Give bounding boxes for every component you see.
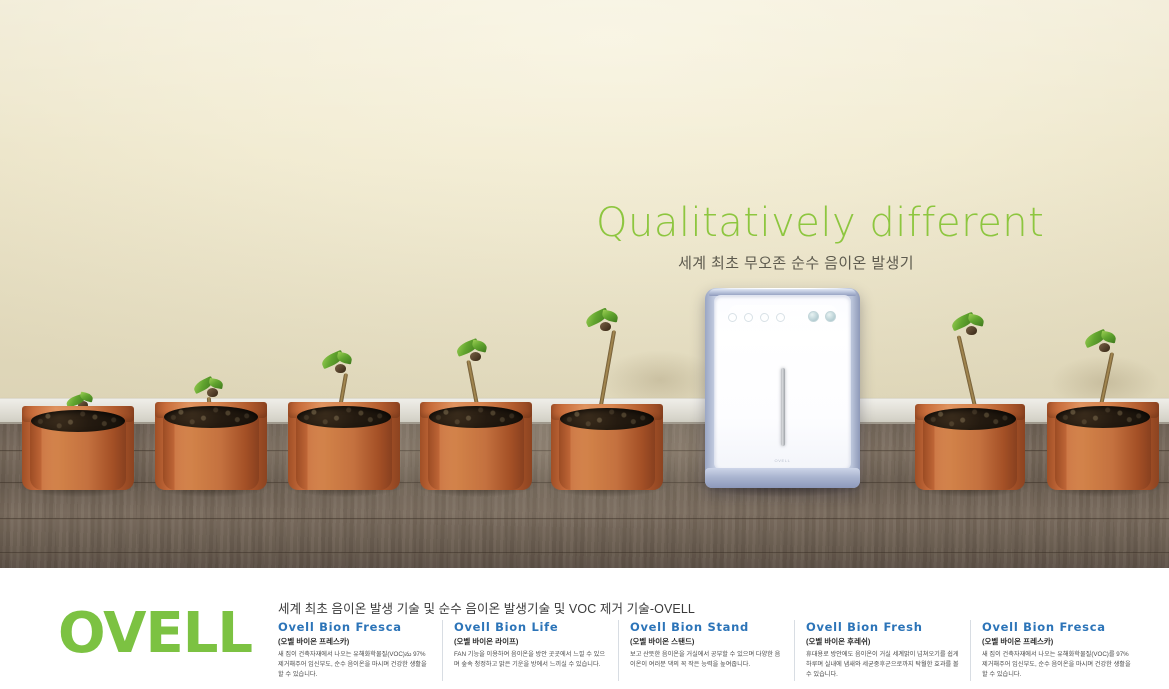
product-title: Ovell Bion Life (454, 620, 607, 634)
potted-plant (22, 360, 134, 490)
mode-button[interactable] (808, 311, 819, 322)
pot-soil (560, 408, 654, 430)
product-title: Ovell Bion Fresh (806, 620, 959, 634)
advertisement-poster: OVELL (0, 0, 1169, 689)
hero-subheadline: 세계 최초 무오존 순수 음이온 발생기 (596, 252, 996, 273)
pot-soil (1056, 406, 1150, 428)
device-air-outlet-slot (781, 368, 785, 446)
product-description: 새 집이 건축자재에서 나오는 유해화학물질(VOC)를 97% 제거해주어 임… (982, 650, 1136, 681)
plant-leaf (1100, 331, 1117, 344)
product-title: Ovell Bion Fresca (278, 620, 431, 634)
product-panel[interactable]: Ovell Bion Fresca (오벨 바이온 프레스카) 새 집이 건축자… (982, 620, 1147, 681)
product-title: Ovell Bion Stand (630, 620, 783, 634)
plant-leaf (471, 339, 488, 352)
product-description: 새 집이 건축자재에서 나오는 유해화학물질(VOC)ను 97% 제거해주어 … (278, 650, 431, 681)
flower-pot (915, 404, 1025, 490)
pot-soil (924, 408, 1016, 430)
pot-soil (429, 406, 523, 428)
product-title: Ovell Bion Fresca (982, 620, 1136, 634)
hero-headline: Qualitatively different (596, 200, 996, 246)
flower-pot (22, 406, 134, 490)
flower-pot (420, 402, 532, 490)
device-brand-mark: OVELL (715, 458, 850, 463)
power-button[interactable] (825, 311, 836, 322)
seed-husk (966, 326, 977, 335)
product-panel[interactable]: Ovell Bion Fresh (오벨 바이온 후레쉬) 휴대용로 방안에도 … (806, 620, 971, 681)
device-control-buttons[interactable] (808, 311, 836, 322)
filter-indicator-icon (776, 313, 785, 322)
potted-plant (1047, 322, 1159, 490)
device-front-panel: OVELL (714, 295, 851, 470)
product-subtitle: (오벨 바이온 프레스카) (278, 636, 431, 647)
product-description: FAN 기능을 이용하여 음이온을 방안 곳곳에서 느낄 수 있으며 숲속 청정… (454, 650, 607, 670)
potted-plant (420, 330, 532, 490)
potted-plant (155, 355, 267, 490)
seed-husk (470, 352, 481, 361)
flower-pot (155, 402, 267, 490)
plant-leaf (601, 309, 619, 322)
potted-plant (915, 308, 1025, 490)
potted-plant (288, 340, 400, 490)
ion-indicator-icon (760, 313, 769, 322)
flower-pot (551, 404, 663, 490)
product-subtitle: (오벨 바이온 라이프) (454, 636, 607, 647)
product-subtitle: (오벨 바이온 후레쉬) (806, 636, 959, 647)
product-panel[interactable]: Ovell Bion Life (오벨 바이온 라이프) FAN 기능을 이용하… (454, 620, 619, 681)
product-description: 보고 산뜻한 음이온을 거실에서 공부할 수 있으며 다양한 음이온이 여러분 … (630, 650, 783, 670)
power-indicator-icon (728, 313, 737, 322)
product-subtitle: (오벨 바이온 스탠드) (630, 636, 783, 647)
ovell-logo: OVELL (58, 601, 252, 666)
pot-soil (31, 410, 125, 432)
pot-soil (164, 406, 258, 428)
product-subtitle: (오벨 바이온 프레스카) (982, 636, 1136, 647)
seed-husk (335, 364, 346, 373)
product-panel[interactable]: Ovell Bion Stand (오벨 바이온 스탠드) 보고 산뜻한 음이온… (630, 620, 795, 681)
seed-husk (1099, 343, 1110, 352)
product-panel[interactable]: Ovell Bion Fresca (오벨 바이온 프레스카) 새 집이 건축자… (278, 620, 443, 681)
footer-tagline: 세계 최초 음이온 발생 기술 및 순수 음이온 발생기술 및 VOC 제거 기… (278, 598, 695, 617)
product-description: 휴대용로 방안에도 음이온이 거실 세계맑이 넘쳐오기를 쉽게 하루며 실내에 … (806, 650, 959, 681)
device-base (705, 468, 860, 488)
plant-leaf (336, 352, 353, 365)
device-indicator-icons (728, 313, 785, 322)
seed-husk (207, 388, 218, 397)
device-housing: OVELL (705, 288, 860, 488)
product-photo-scene: OVELL (0, 0, 1169, 568)
footer-bar: OVELL 세계 최초 음이온 발생 기술 및 순수 음이온 발생기술 및 VO… (0, 568, 1169, 689)
pot-soil (297, 406, 391, 428)
product-panel-list: Ovell Bion Fresca (오벨 바이온 프레스카) 새 집이 건축자… (278, 620, 1158, 681)
air-purifier-device[interactable]: OVELL (705, 288, 860, 488)
seed-husk (600, 322, 611, 331)
potted-plant (551, 305, 663, 490)
plant-leaf (967, 313, 985, 326)
flower-pot (288, 402, 400, 490)
fan-indicator-icon (744, 313, 753, 322)
flower-pot (1047, 402, 1159, 490)
